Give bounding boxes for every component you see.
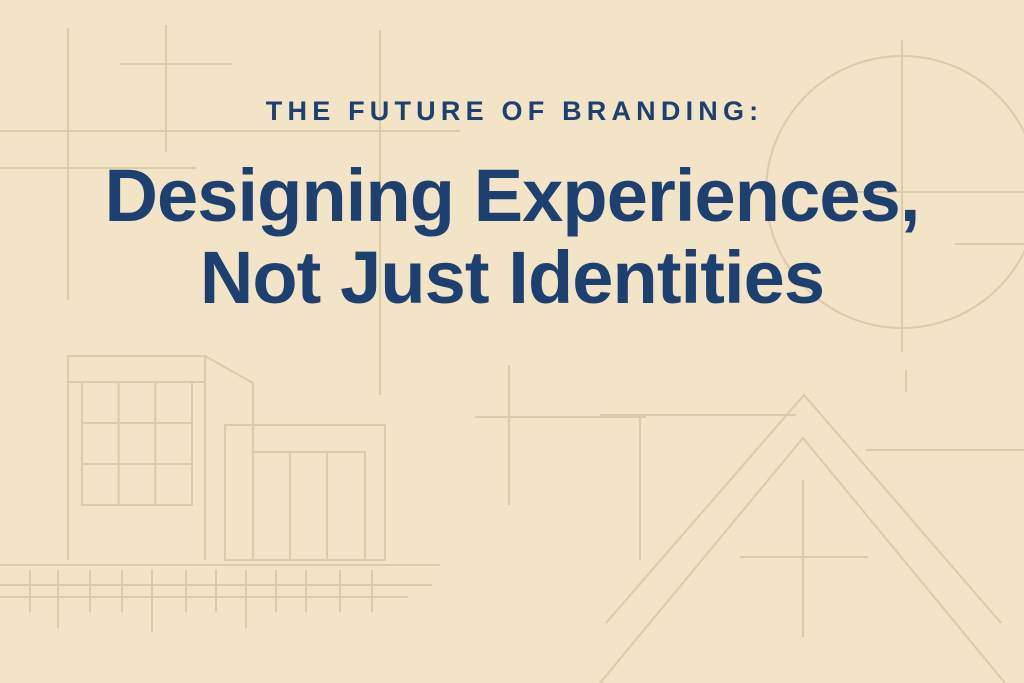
text-block: THE FUTURE OF BRANDING: Designing Experi…: [0, 0, 1024, 683]
headline-line-1: Designing Experiences,: [104, 155, 919, 237]
eyebrow-text: THE FUTURE OF BRANDING:: [261, 98, 764, 125]
page-title: Designing Experiences, Not Just Identiti…: [104, 155, 919, 319]
headline-line-2: Not Just Identities: [104, 237, 919, 319]
title-card: THE FUTURE OF BRANDING: Designing Experi…: [0, 0, 1024, 683]
